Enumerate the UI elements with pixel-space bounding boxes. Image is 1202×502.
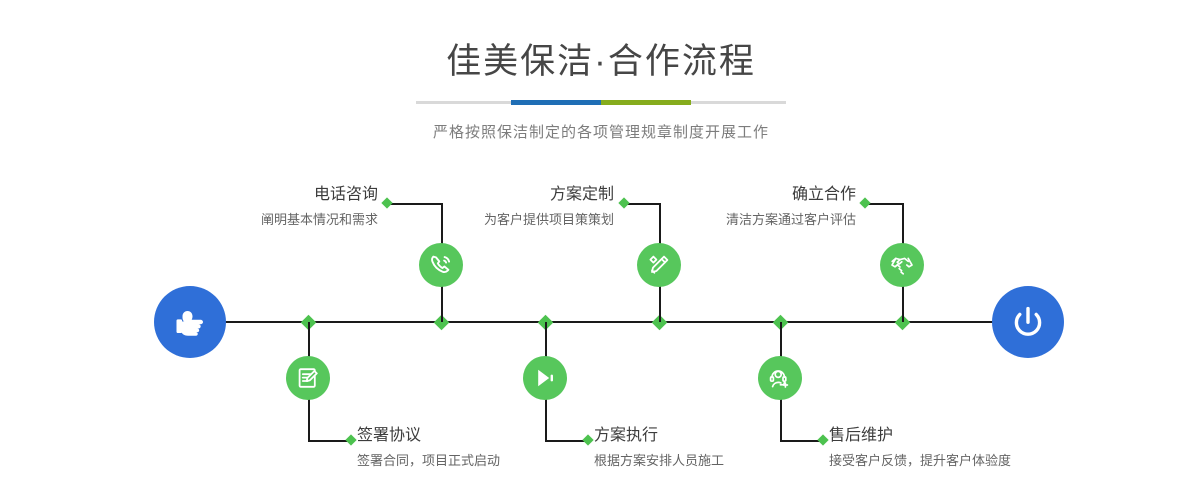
phone-call-icon bbox=[428, 252, 454, 278]
timeline-axis bbox=[155, 321, 1045, 323]
step-node-5[interactable] bbox=[880, 243, 924, 287]
step-desc-3: 为客户提供项目策策划 bbox=[388, 213, 614, 227]
caption-marker-3 bbox=[618, 197, 629, 208]
connector-horizontal-2 bbox=[308, 440, 351, 442]
flow-diagram-page: 佳美保洁·合作流程 严格按照保洁制定的各项管理规章制度开展工作 bbox=[0, 0, 1202, 502]
step-caption-6: 售后维护 接受客户反馈，提升客户体验度 bbox=[829, 427, 1079, 468]
step-title-5: 确立合作 bbox=[630, 186, 856, 204]
step-desc-4: 根据方案安排人员施工 bbox=[594, 454, 834, 468]
step-title-3: 方案定制 bbox=[388, 186, 614, 204]
power-icon bbox=[1007, 301, 1049, 343]
step-node-6[interactable] bbox=[758, 356, 802, 400]
timeline-start-node[interactable] bbox=[154, 286, 226, 358]
step-desc-2: 签署合同，项目正式启动 bbox=[357, 454, 597, 468]
step-node-3[interactable] bbox=[637, 243, 681, 287]
document-sign-icon bbox=[295, 365, 321, 391]
play-execute-icon bbox=[532, 365, 558, 391]
caption-marker-2 bbox=[345, 434, 356, 445]
step-node-4[interactable] bbox=[523, 356, 567, 400]
step-caption-4: 方案执行 根据方案安排人员施工 bbox=[594, 427, 834, 468]
step-caption-2: 签署协议 签署合同，项目正式启动 bbox=[357, 427, 597, 468]
step-title-6: 售后维护 bbox=[829, 427, 1079, 445]
pointing-hand-icon bbox=[169, 301, 211, 343]
timeline-end-node[interactable] bbox=[992, 286, 1064, 358]
step-node-2[interactable] bbox=[286, 356, 330, 400]
customer-service-add-icon bbox=[767, 365, 793, 391]
step-caption-3: 方案定制 为客户提供项目策策划 bbox=[388, 186, 614, 227]
step-node-1[interactable] bbox=[419, 243, 463, 287]
step-desc-6: 接受客户反馈，提升客户体验度 bbox=[829, 454, 1079, 468]
caption-marker-5 bbox=[859, 197, 870, 208]
step-desc-5: 清洁方案通过客户评估 bbox=[630, 213, 856, 227]
step-caption-5: 确立合作 清洁方案通过客户评估 bbox=[630, 186, 856, 227]
step-caption-1: 电话咨询 阐明基本情况和需求 bbox=[150, 186, 378, 227]
pencil-design-icon bbox=[646, 252, 672, 278]
connector-horizontal-5 bbox=[866, 203, 902, 205]
connector-horizontal-4 bbox=[545, 440, 588, 442]
step-title-1: 电话咨询 bbox=[150, 186, 378, 204]
connector-horizontal-6 bbox=[780, 440, 823, 442]
process-timeline: 电话咨询 阐明基本情况和需求 bbox=[0, 0, 1202, 502]
handshake-icon bbox=[889, 252, 915, 278]
step-desc-1: 阐明基本情况和需求 bbox=[150, 213, 378, 227]
